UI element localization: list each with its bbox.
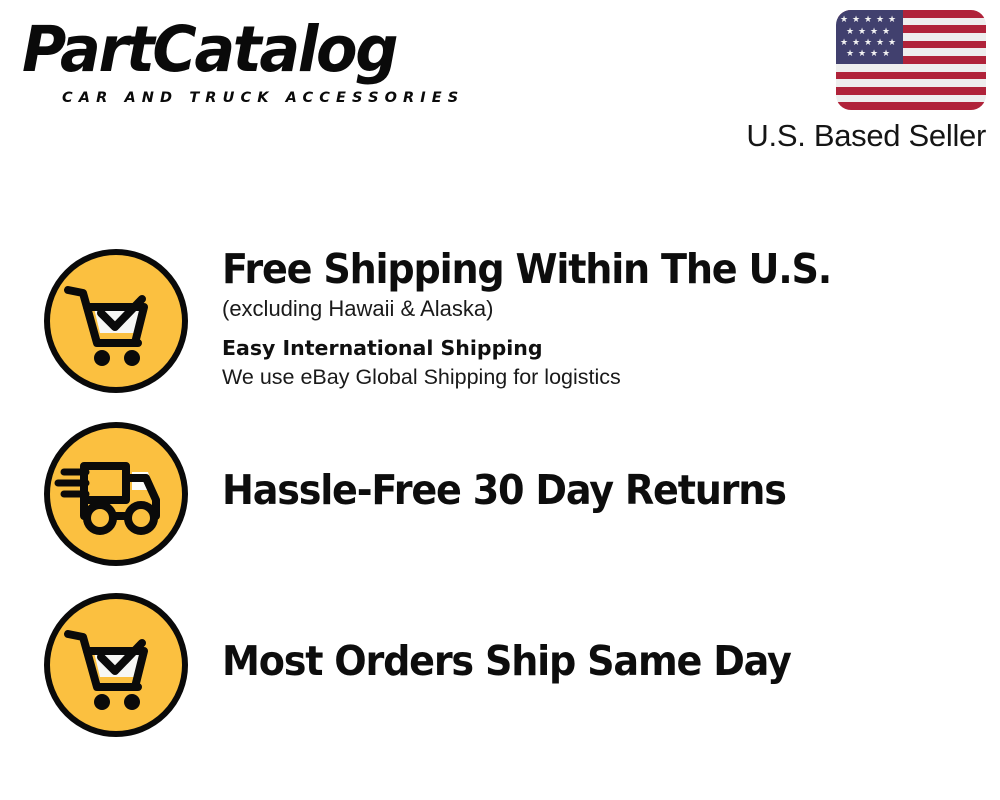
us-based-seller-block: ★ ★ ★ ★ ★ ★ ★ ★ ★ ★ ★ ★ ★ ★ ★ ★ ★ [716, 10, 986, 154]
feature-row-returns: Hassle-Free 30 Day Returns [0, 409, 1000, 581]
shipping-info-banner: PartCatalog CAR AND TRUCK ACCESSORIES ★ … [0, 0, 1000, 800]
feature-sub-heading: Easy International Shipping [222, 335, 982, 362]
feature-subtext: (excluding Hawaii & Alaska) [222, 294, 982, 324]
brand-logo: PartCatalog CAR AND TRUCK ACCESSORIES [22, 18, 492, 113]
feature-text-returns: Hassle-Free 30 Day Returns [222, 465, 982, 515]
brand-name: PartCatalog [22, 18, 473, 82]
shopping-cart-check-icon [44, 249, 188, 393]
feature-text-free-shipping: Free Shipping Within The U.S. (excluding… [222, 244, 982, 392]
banner-header: PartCatalog CAR AND TRUCK ACCESSORIES ★ … [0, 0, 1000, 170]
feature-heading: Free Shipping Within The U.S. [222, 244, 929, 294]
brand-tagline: CAR AND TRUCK ACCESSORIES [62, 90, 464, 106]
feature-row-free-shipping: Free Shipping Within The U.S. (excluding… [0, 236, 1000, 408]
flag-canton: ★ ★ ★ ★ ★ ★ ★ ★ ★ ★ ★ ★ ★ ★ ★ ★ ★ [836, 10, 903, 64]
feature-sub-detail: We use eBay Global Shipping for logistic… [222, 362, 982, 392]
feature-heading: Most Orders Ship Same Day [222, 636, 929, 686]
feature-heading: Hassle-Free 30 Day Returns [222, 465, 929, 515]
seller-label: U.S. Based Seller [716, 118, 986, 154]
shopping-cart-check-icon [44, 593, 188, 737]
delivery-truck-icon [44, 422, 188, 566]
feature-text-same-day: Most Orders Ship Same Day [222, 636, 982, 686]
us-flag-icon: ★ ★ ★ ★ ★ ★ ★ ★ ★ ★ ★ ★ ★ ★ ★ ★ ★ [836, 10, 986, 110]
feature-row-same-day: Most Orders Ship Same Day [0, 580, 1000, 752]
